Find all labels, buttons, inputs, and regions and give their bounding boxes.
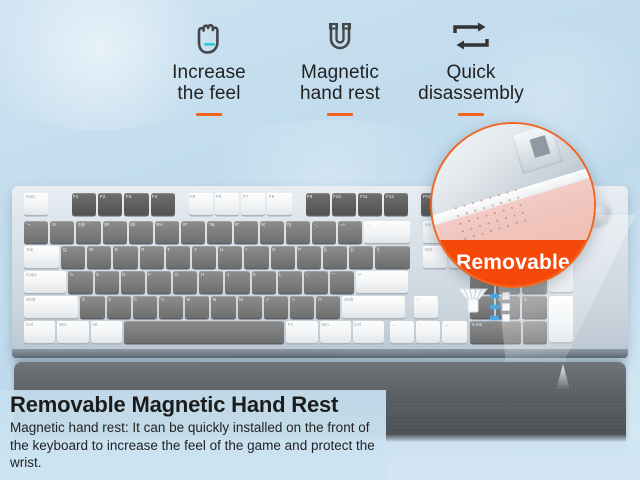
keycap-legend: G [175,273,179,278]
feature-underline [196,113,222,116]
keycap-legend: '" [332,273,335,278]
keycap-legend: Shift [344,298,353,303]
keycap-legend: Win [59,323,67,328]
key-row-shift: ShiftZXCVBNM,<.>/?Shift [24,296,405,318]
key-ctrl[interactable]: Ctrl [24,321,55,343]
keycap-legend: [{ [324,248,327,253]
key-[interactable]: ↑ [414,296,438,318]
magnet-icon [324,14,356,60]
keycap-legend: /? [318,298,322,303]
key-[interactable]: .> [290,296,314,318]
key-f12[interactable]: F12 [384,193,408,215]
keycap-legend: ESC [26,195,35,200]
key-tab[interactable]: Tab [24,246,59,268]
keycap-legend: .> [291,298,295,303]
key-[interactable]: -_ [312,221,336,243]
keycap-legend: \| [377,248,379,253]
num-lock-led [490,292,510,300]
keycap-legend: 3# [104,223,109,228]
key-c[interactable]: C [133,296,157,318]
key-esc[interactable]: ESC [24,193,48,215]
key-f2[interactable]: F2 [98,193,122,215]
key-[interactable]: . [523,321,547,343]
key-[interactable]: ← [364,221,410,243]
keycap-legend: C [134,298,137,303]
key-space[interactable] [124,321,284,343]
key-u[interactable]: U [218,246,242,268]
keycap-puller-icon [455,284,491,318]
feature-quick-disassembly: Quick disassembly [412,14,530,134]
key-k[interactable]: K [252,271,276,293]
key-8[interactable]: 8* [234,221,258,243]
key-p[interactable]: P [297,246,321,268]
magnifier-callout: Removable [430,122,596,288]
poster-canvas: Increase the feel Magnetic hand rest [0,0,640,480]
caption-panel: Removable Magnetic Hand Rest Magnetic ha… [0,390,386,480]
key-alt[interactable]: Alt [91,321,122,343]
keycap-legend: M [239,298,243,303]
key-m[interactable]: M [238,296,262,318]
key-f6[interactable]: F6 [215,193,239,215]
key-o[interactable]: O [271,246,295,268]
scroll-lock-led [490,314,510,322]
key-5[interactable]: 5% [155,221,179,243]
keycap-legend: F11 [360,195,368,200]
keycap-legend: Alt [92,323,97,328]
feature-title: Increase the feel [172,62,246,104]
key-[interactable]: ,< [264,296,288,318]
key-f8[interactable]: F8 [267,193,291,215]
keycap-legend: Ctrl [354,323,361,328]
keycap-legend: J [227,273,229,278]
keycap-legend: U [220,248,223,253]
key-[interactable]: → [442,321,466,343]
key-[interactable]: ↵ [356,271,408,293]
key-shift[interactable]: Shift [342,296,405,318]
key-7[interactable]: 7& [207,221,231,243]
key-arrow-up: ↑ [414,296,438,318]
keycap-legend: R [141,248,144,253]
caption-title: Removable Magnetic Hand Rest [10,392,376,418]
keycap-legend: F7 [243,195,248,200]
key-[interactable]: `~ [24,221,48,243]
numpad-enter [549,296,573,342]
keycap-legend: Q [63,248,67,253]
key-caps[interactable]: Caps [24,271,66,293]
key-row-qwerty: TabQWERTYUIOP[{]}\|DelEndPgDn [24,246,500,268]
numpad-row: 0 Ins. [470,321,547,343]
key-i[interactable]: I [244,246,268,268]
key-f9[interactable]: F9 [306,193,330,215]
caption-body: Magnetic hand rest: It can be quickly in… [10,419,376,472]
key-r[interactable]: R [140,246,164,268]
keycap-legend: 8* [235,223,239,228]
keycap-legend: K [253,273,256,278]
feature-magnetic-hand-rest: Magnetic hand rest [281,14,399,134]
keycap-legend: Del [425,248,432,253]
key-e[interactable]: E [113,246,137,268]
key-x[interactable]: X [107,296,131,318]
key-blank[interactable] [549,296,573,342]
key-f3[interactable]: F3 [124,193,148,215]
key-ctrl[interactable]: Ctrl [353,321,384,343]
key-[interactable]: ↓ [416,321,440,343]
keycap-legend: Shift [26,298,35,303]
keycap-legend: P [298,248,301,253]
keycap-legend: F1 [73,195,78,200]
key-f7[interactable]: F7 [241,193,265,215]
hand-icon [192,14,226,60]
feature-underline [458,113,484,116]
keycap-legend: ,< [265,298,269,303]
key-0[interactable]: 0) [286,221,310,243]
keycap-legend: 2@ [78,223,85,228]
feature-increase-the-feel: Increase the feel [150,14,268,134]
keycap-legend: A [70,273,73,278]
keycap-legend: F3 [126,195,131,200]
key-s[interactable]: S [95,271,119,293]
keycap-legend: ← [392,323,397,328]
feature-underline [327,113,353,116]
key-3[interactable]: 3# [103,221,127,243]
key-3[interactable]: 3 [522,296,546,318]
key-shift[interactable]: Shift [24,296,78,318]
key-[interactable]: ← [390,321,414,343]
key-[interactable]: /? [316,296,340,318]
key-f11[interactable]: F11 [358,193,382,215]
status-led-group [490,292,510,322]
key-f10[interactable]: F10 [332,193,356,215]
keycap-legend: ← [366,223,371,228]
swap-arrows-icon [451,14,491,60]
keycap-legend: F2 [100,195,105,200]
keycap-legend: =+ [340,223,345,228]
key-6[interactable]: 6^ [181,221,205,243]
key-q[interactable]: Q [61,246,85,268]
keycap-legend: Z [82,298,85,303]
key-win[interactable]: Win [57,321,88,343]
keycap-legend: ↑ [416,298,418,303]
key-v[interactable]: V [159,296,183,318]
keycap-legend: . [524,323,525,328]
keycap-legend: 5% [156,223,163,228]
keycap-legend: B [187,298,190,303]
removable-badge: Removable [432,240,594,286]
keycap-legend: I [246,248,247,253]
keycap-legend: Win [321,323,329,328]
key-h[interactable]: H [199,271,223,293]
keycap-legend: L [279,273,282,278]
keycap-legend: S [96,273,99,278]
keycap-legend: ↓ [418,323,420,328]
key-f1[interactable]: F1 [72,193,96,215]
key-l[interactable]: L [278,271,302,293]
key-row-number: `~1!2@3#4$5%6^7&8*9(0)-_=+←InsHomePgUp [24,221,500,243]
keycap-legend: F5 [190,195,195,200]
keycap-legend: 0 Ins [472,323,482,328]
keycap-legend: `~ [26,223,30,228]
keycap-legend: F6 [216,195,221,200]
keycap-legend: X [108,298,111,303]
keycap-legend: F9 [307,195,312,200]
feature-title: Magnetic hand rest [300,62,380,104]
key-win[interactable]: Win [320,321,351,343]
keycap-legend: Caps [26,273,37,278]
key-g[interactable]: G [173,271,197,293]
key-d[interactable]: D [121,271,145,293]
key-j[interactable]: J [225,271,249,293]
key-4[interactable]: 4$ [129,221,153,243]
keycap-legend: H [201,273,204,278]
key-arrow-cluster: ←↓→ [390,321,467,343]
keycap-legend: 0) [287,223,291,228]
keycap-legend: Fn [288,323,293,328]
keycap-legend: E [115,248,118,253]
key-row-bottom: CtrlWinAltFnWinCtrl [24,321,384,343]
keycap-legend: → [444,323,449,328]
keycap-legend: Ctrl [26,323,33,328]
keycap-legend: Tab [26,248,33,253]
keycap-legend: ]} [351,248,354,253]
keycap-legend: W [89,248,93,253]
key-[interactable]: '" [330,271,354,293]
key-f4[interactable]: F4 [151,193,175,215]
key-z[interactable]: Z [80,296,104,318]
key-t[interactable]: T [166,246,190,268]
key-f[interactable]: F [147,271,171,293]
key-[interactable]: ;: [304,271,328,293]
key-b[interactable]: B [185,296,209,318]
key-[interactable]: \| [375,246,410,268]
key-row-function: ESCF1F2F3F4F5F6F7F8F9F10F11F12PrtScScrLk… [24,193,498,215]
keycap-legend: N [213,298,216,303]
keycap-legend: 3 [524,298,527,303]
feature-title: Quick disassembly [418,62,524,104]
key-a[interactable]: A [68,271,92,293]
keycap-legend: Y [194,248,197,253]
keycap-legend: D [122,273,125,278]
key-0-ins[interactable]: 0 Ins [470,321,521,343]
key-fn[interactable]: Fn [286,321,317,343]
key-w[interactable]: W [87,246,111,268]
keycap-legend: F [148,273,151,278]
keycap-legend: 1! [52,223,56,228]
keycap-legend: F10 [333,195,341,200]
keycap-legend: ;: [306,273,309,278]
key-1[interactable]: 1! [50,221,74,243]
keycap-legend: -_ [314,223,318,228]
keycap-legend: 9( [261,223,265,228]
key-f5[interactable]: F5 [189,193,213,215]
keycap-legend: T [167,248,170,253]
keycap-legend: 6^ [183,223,188,228]
keycap-legend: 7& [209,223,215,228]
key-[interactable]: [{ [323,246,347,268]
key-n[interactable]: N [211,296,235,318]
key-2[interactable]: 2@ [76,221,100,243]
removable-badge-label: Removable [456,251,570,275]
keycap-legend: Ins [425,223,431,228]
key-[interactable]: ]} [349,246,373,268]
keycap-legend: ↵ [358,273,362,278]
keycap-legend: F8 [269,195,274,200]
key-row-home: CapsASDFGHJKL;:'"↵ [24,271,408,293]
keycap-legend: F12 [386,195,394,200]
key-9[interactable]: 9( [260,221,284,243]
keycap-legend: O [272,248,276,253]
keycap-legend: F4 [152,195,157,200]
keycap-legend: V [161,298,164,303]
key-y[interactable]: Y [192,246,216,268]
caps-lock-led [490,303,510,311]
key-[interactable]: =+ [338,221,362,243]
keycap-legend: 4$ [130,223,135,228]
feature-header-row: Increase the feel Magnetic hand rest [150,14,530,134]
